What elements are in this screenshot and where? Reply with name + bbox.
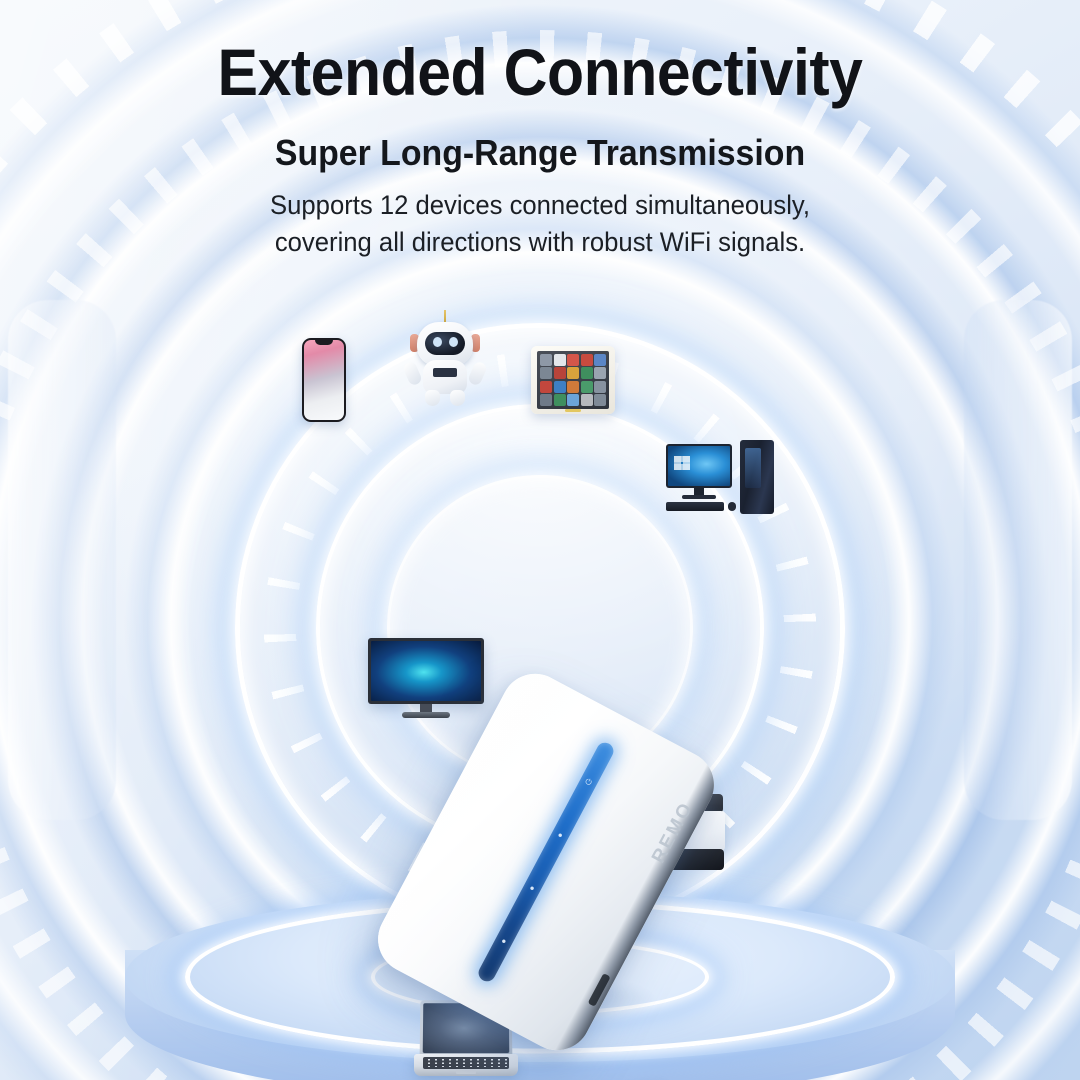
robot-leg-left <box>425 390 440 406</box>
tablet-app-icon <box>567 367 579 379</box>
tablet-app-icon <box>540 354 552 366</box>
tablet-app-icon <box>594 394 606 406</box>
tablet-app-icon <box>594 367 606 379</box>
product-marketing-banner: ⏻ ● ● ● REMO Extended Connectivity Super… <box>0 0 1080 1080</box>
tablet-app-icon <box>567 354 579 366</box>
tv-screen <box>371 641 481 701</box>
tablet-app-icon <box>540 381 552 393</box>
tablet-app-icon <box>581 354 593 366</box>
pc-monitor <box>666 444 732 488</box>
pc-monitor-screen <box>668 446 730 486</box>
tablet-app-icon <box>581 367 593 379</box>
robot-leg-right <box>450 390 465 406</box>
laptop-trackpad <box>456 1070 476 1074</box>
subheading: Super Long-Range Transmission <box>32 133 1047 173</box>
tablet-home-indicator <box>565 409 581 412</box>
tablet-app-icon <box>554 381 566 393</box>
tablet-app-icon <box>567 394 579 406</box>
tv-stand-base <box>402 712 450 718</box>
tablet-app-icon <box>554 394 566 406</box>
robot-eye-left <box>433 337 442 347</box>
power-icon: ⏻ <box>582 776 594 788</box>
description-line-2: covering all directions with robust WiFi… <box>179 224 901 261</box>
robot-arm-right <box>467 360 488 386</box>
device-smartphone <box>302 338 346 422</box>
page-title: Extended Connectivity <box>43 38 1037 107</box>
tablet-app-icon <box>554 354 566 366</box>
marketing-copy: Extended Connectivity Super Long-Range T… <box>0 38 1080 261</box>
tablet-app-icon <box>567 381 579 393</box>
tablet-app-icon <box>594 354 606 366</box>
tablet-screen <box>537 351 609 409</box>
tablet-app-icon <box>581 381 593 393</box>
device-desktop-pc <box>666 440 774 516</box>
robot-eye-right <box>449 337 458 347</box>
wifi-icon: ● <box>554 829 566 841</box>
robot-chest-panel <box>433 368 457 377</box>
tv-frame <box>368 638 484 704</box>
laptop-keyboard <box>423 1057 509 1069</box>
device-tablet <box>531 346 615 414</box>
tablet-app-icon <box>554 367 566 379</box>
tablet-app-icon <box>581 394 593 406</box>
robot-arm-left <box>402 360 423 386</box>
description-text: Supports 12 devices connected simultaneo… <box>179 187 901 262</box>
smartphone-notch <box>315 340 333 345</box>
pc-monitor-base <box>682 495 716 499</box>
pc-mouse <box>728 502 736 511</box>
pc-keyboard <box>666 502 724 511</box>
robot-body <box>423 360 467 394</box>
tablet-app-icon <box>594 381 606 393</box>
smartphone-screen <box>304 340 344 420</box>
device-robot-toy <box>404 310 486 406</box>
description-line-1: Supports 12 devices connected simultaneo… <box>179 187 901 224</box>
tablet-app-icon <box>540 394 552 406</box>
status-icon: ● <box>498 935 510 947</box>
pc-tower-case <box>740 440 774 514</box>
signal-icon: ● <box>526 882 538 894</box>
tablet-app-icon <box>540 367 552 379</box>
robot-visor <box>425 332 465 355</box>
device-television <box>368 638 484 720</box>
